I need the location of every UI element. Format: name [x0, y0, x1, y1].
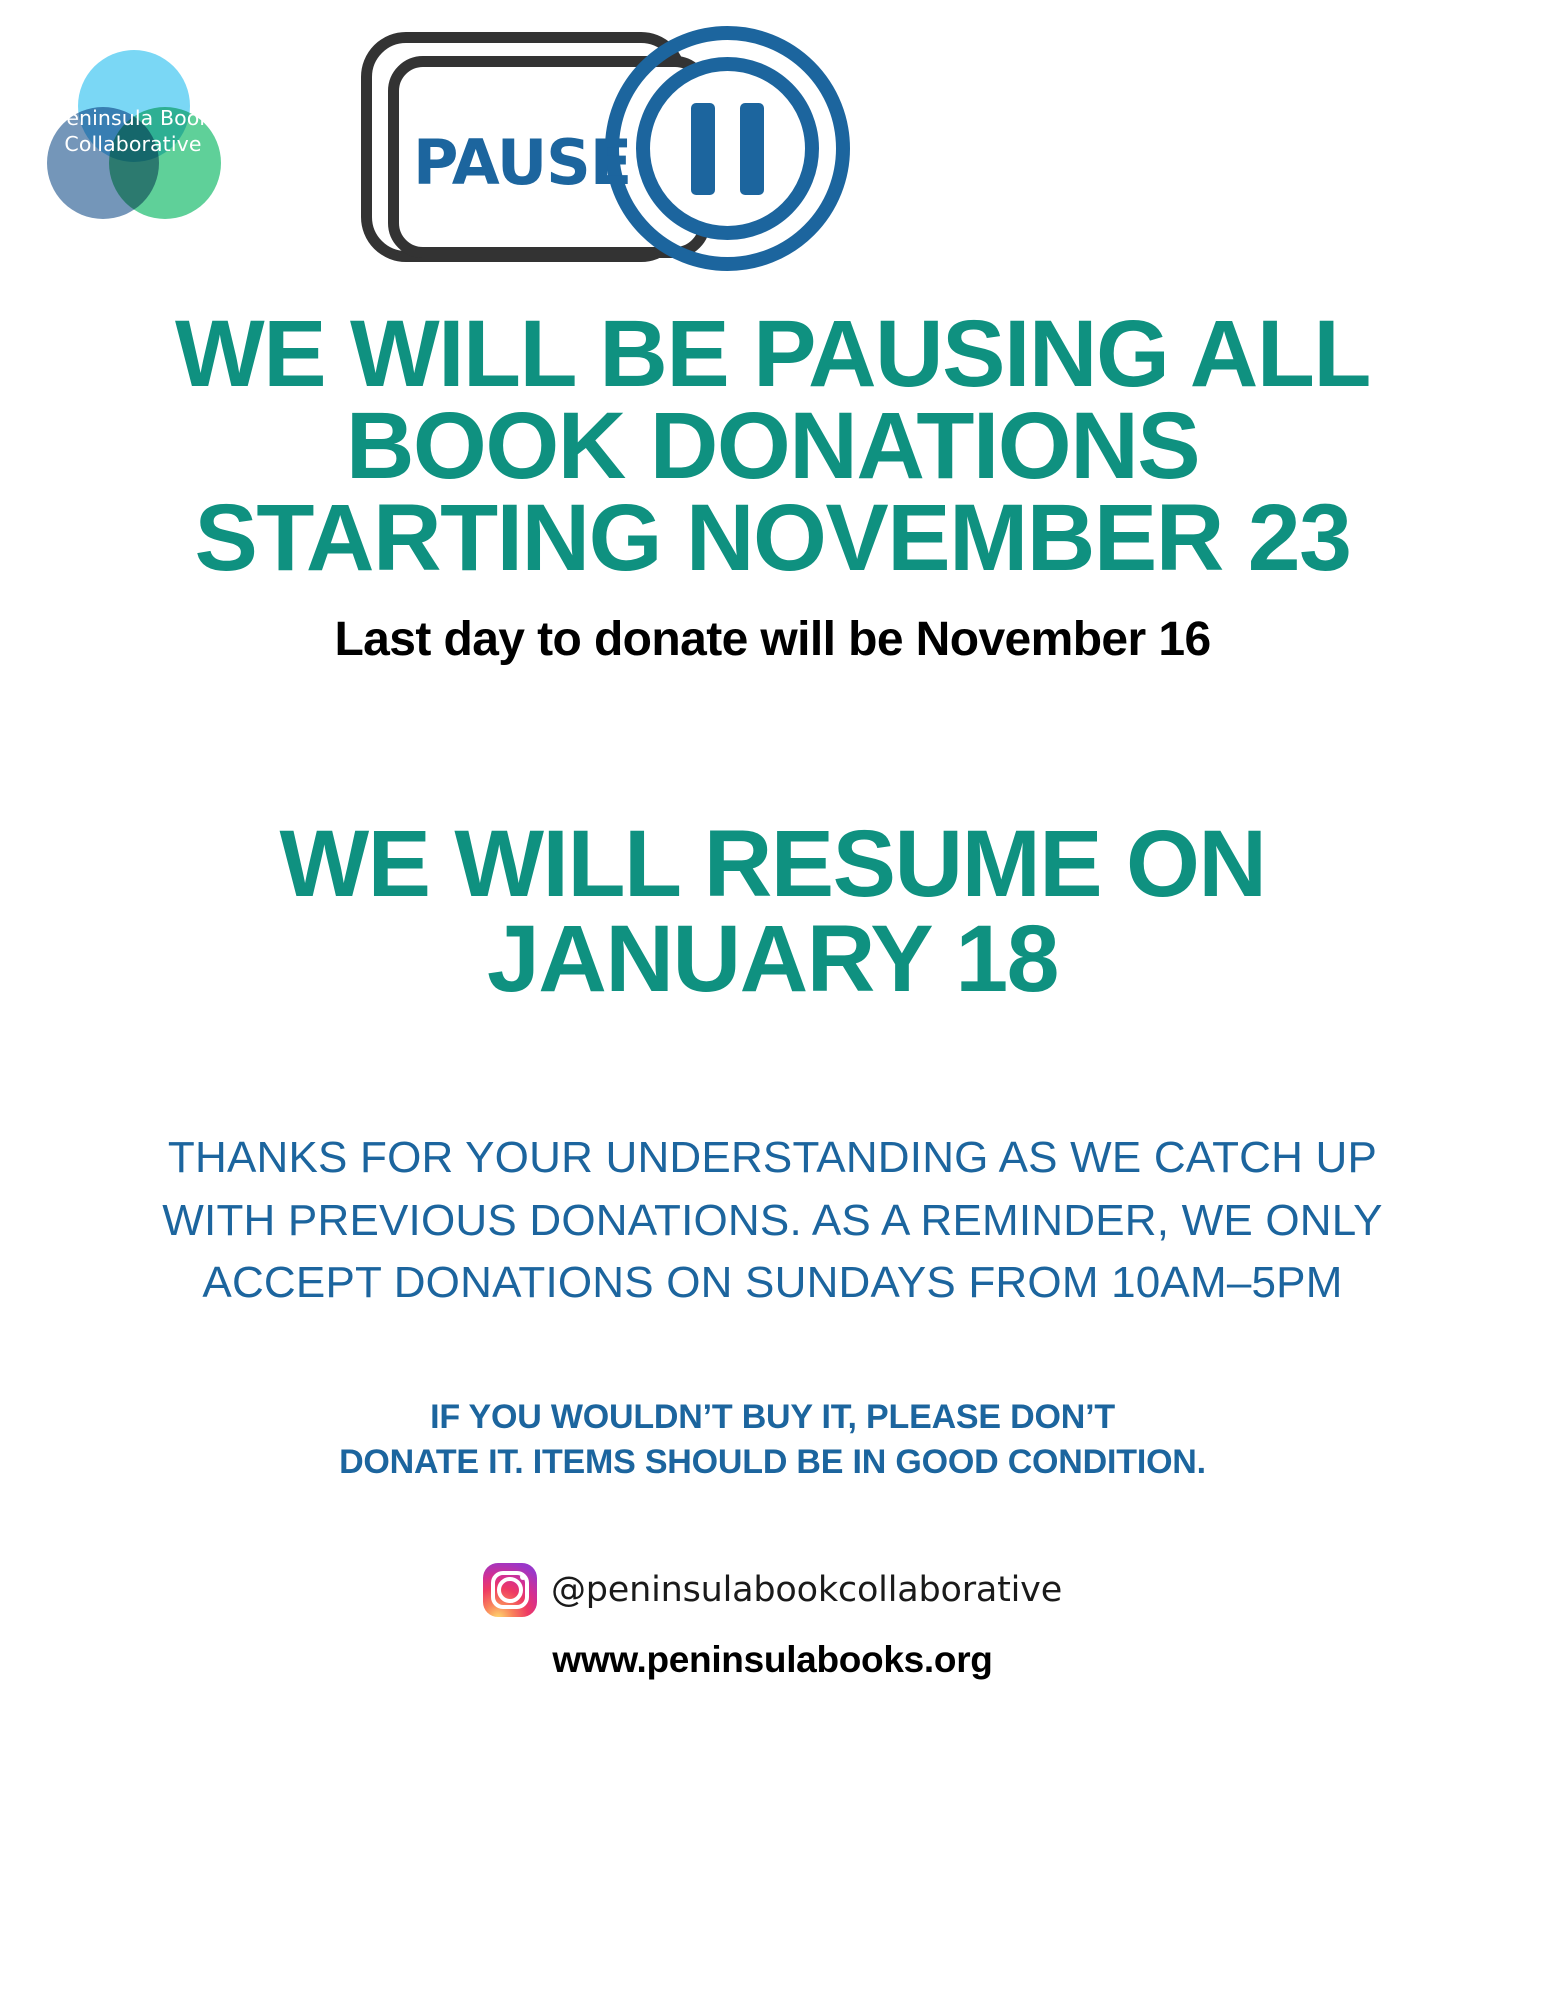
logo-text: Peninsula Book Collaborative [28, 105, 238, 157]
website-url[interactable]: www.peninsulabooks.org [0, 1639, 1545, 1681]
resume-announcement: WE WILL RESUME ON JANUARY 18 [0, 817, 1545, 1007]
headline-line-2: BOOK DONATIONS [0, 400, 1545, 492]
pause-bar-right [740, 103, 764, 195]
poster-canvas: Peninsula Book Collaborative PAUSE WE WI… [0, 0, 1545, 2000]
instagram-icon[interactable] [483, 1563, 537, 1617]
instagram-dot-shape [520, 1574, 526, 1580]
pause-circle-inner-ring [636, 57, 819, 240]
primary-announcement: WE WILL BE PAUSING ALL BOOK DONATIONS ST… [0, 308, 1545, 667]
body-line-2: WITH PREVIOUS DONATIONS. AS A REMINDER, … [0, 1190, 1545, 1252]
organization-logo: Peninsula Book Collaborative [28, 22, 278, 252]
instagram-handle[interactable]: @peninsulabookcollaborative [551, 1570, 1062, 1610]
resume-headline-line-1: WE WILL RESUME ON [0, 817, 1545, 912]
body-line-1: THANKS FOR YOUR UNDERSTANDING AS WE CATC… [0, 1127, 1545, 1189]
note-line-1: IF YOU WOULDN’T BUY IT, PLEASE DON’T [0, 1395, 1545, 1440]
instagram-lens-shape [497, 1577, 523, 1603]
pause-button-icon: PAUSE [355, 18, 865, 278]
headline-line-3: STARTING NOVEMBER 23 [0, 492, 1545, 584]
instagram-row[interactable]: @peninsulabookcollaborative [0, 1563, 1545, 1617]
logo-name-line-2: Collaborative [28, 131, 238, 157]
body-line-3: ACCEPT DONATIONS ON SUNDAYS FROM 10AM–5P… [0, 1252, 1545, 1314]
resume-headline-line-2: JANUARY 18 [0, 912, 1545, 1007]
body-paragraph: THANKS FOR YOUR UNDERSTANDING AS WE CATC… [0, 1127, 1545, 1314]
headline-line-1: WE WILL BE PAUSING ALL [0, 308, 1545, 400]
pause-label: PAUSE [413, 126, 631, 199]
pause-bar-left [691, 103, 715, 195]
logo-name-line-1: Peninsula Book [28, 105, 238, 131]
poster-header: Peninsula Book Collaborative PAUSE [0, 0, 1545, 300]
note-line-2: DONATE IT. ITEMS SHOULD BE IN GOOD CONDI… [0, 1440, 1545, 1485]
poster-footer: @peninsulabookcollaborative www.peninsul… [0, 1563, 1545, 1681]
last-day-subheadline: Last day to donate will be November 16 [0, 612, 1545, 667]
donation-quality-note: IF YOU WOULDN’T BUY IT, PLEASE DON’T DON… [0, 1395, 1545, 1485]
